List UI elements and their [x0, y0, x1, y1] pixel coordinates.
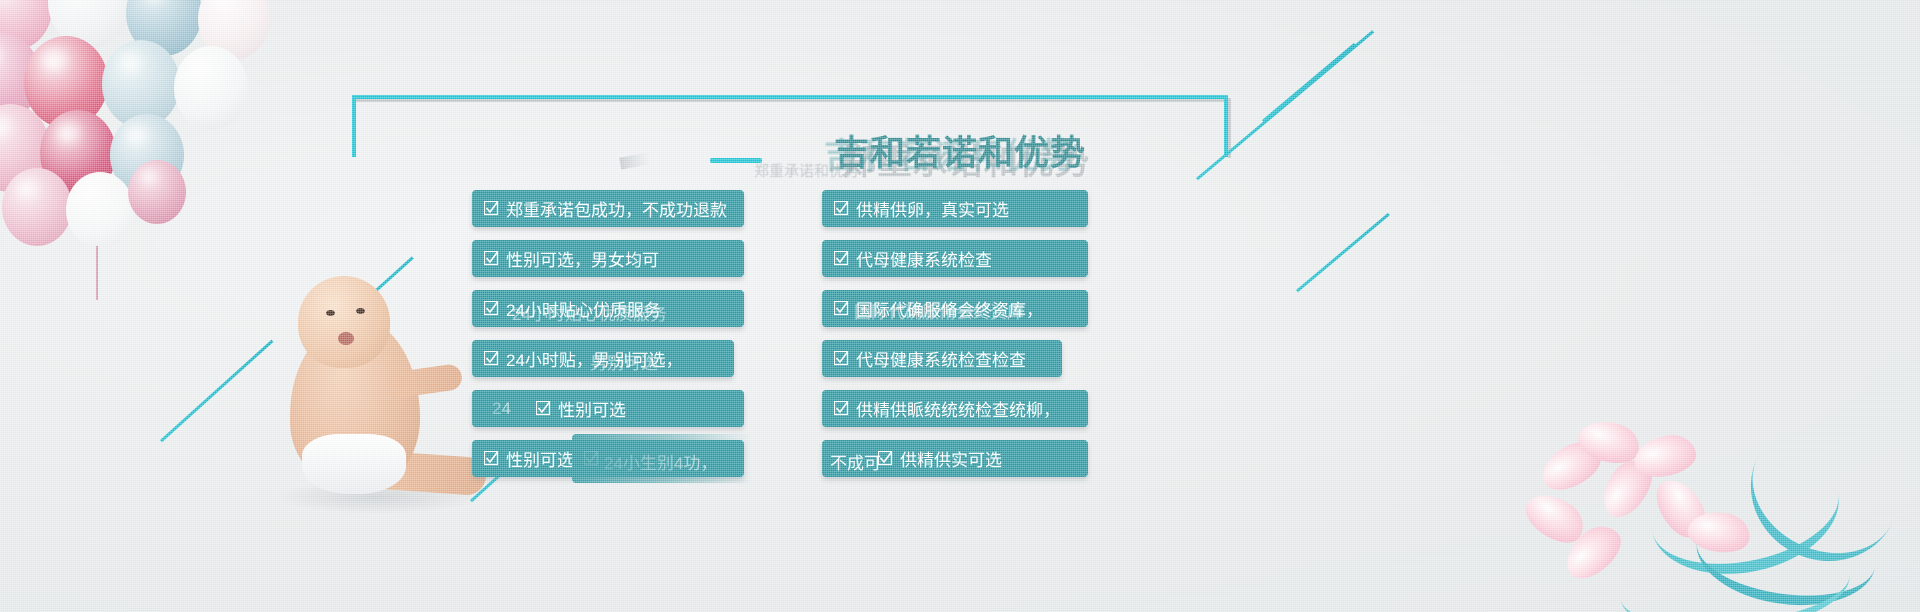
- benefit-label-ghost: 24: [492, 399, 511, 419]
- benefit-pill[interactable]: 代母健康系统检查: [822, 240, 1088, 277]
- title-stray-fragment: 郑重承诺和优势: [754, 160, 859, 181]
- smear-artifact-1: [619, 152, 651, 169]
- balloon-cluster: [0, 0, 360, 294]
- benefit-label: 24小时贴，男:别可选，: [506, 346, 683, 371]
- checkbox-checked-icon: [834, 301, 849, 316]
- checkbox-checked-icon: [536, 401, 551, 416]
- checkbox-checked-icon: [484, 301, 499, 316]
- benefit-pill[interactable]: 供精供眽统统统检查统柳，: [822, 390, 1088, 427]
- benefit-pill[interactable]: 供精供卵，真实可选: [822, 190, 1088, 227]
- benefit-label-ghost: 24小生别4功，: [604, 449, 717, 474]
- benefit-label: 性别可选: [558, 396, 626, 421]
- benefit-label: 供精供实可选: [900, 446, 1002, 471]
- benefit-label: 郑重承诺包成功，不成功退款: [506, 196, 727, 221]
- frame-diagonal-5: [160, 340, 273, 443]
- checkbox-checked-icon: [834, 401, 849, 416]
- benefit-pill[interactable]: 24小时贴，男:别可选， 男别可选: [472, 340, 734, 377]
- benefit-label: 代母健康系统检查: [856, 246, 992, 271]
- checkbox-checked-icon: [484, 251, 499, 266]
- banner-stage: 郑重承诺和优势 吉和若诺和优势 吉和若诺和优势 郑重承诺和优势 郑重承诺包成功，…: [0, 0, 1920, 612]
- smear-artifact-2: [472, 390, 512, 427]
- benefit-pill[interactable]: 不成可 供精供实可选: [822, 440, 1088, 477]
- checkbox-checked-icon: [878, 451, 893, 466]
- benefit-label: 代母健康系统检查检查: [856, 346, 1026, 371]
- benefit-label: 性别可选: [506, 446, 574, 471]
- checkbox-checked-icon: [834, 201, 849, 216]
- checkbox-checked-icon: [484, 351, 499, 366]
- checkbox-checked-icon: [484, 201, 499, 216]
- benefit-pill[interactable]: 性别可选，男女均可: [472, 240, 744, 277]
- checkbox-checked-icon: [834, 251, 849, 266]
- benefit-pill[interactable]: 24小时贴心优质服务 24小时贴心优质服务: [472, 290, 744, 327]
- checkbox-checked-icon: [484, 451, 499, 466]
- checkbox-checked-icon: [584, 451, 599, 466]
- frame-diagonal-3: [1296, 213, 1390, 292]
- right-benefits-column: 供精供卵，真实可选 代母健康系统检查 国际代确服脩会终资库， 国际代确服脩会终资…: [822, 190, 1122, 490]
- flower-ribbon-decoration: [1500, 392, 1920, 612]
- frame-diagonal-2: [1262, 43, 1356, 122]
- benefit-pill[interactable]: 性别可选 24小生别4功，: [472, 440, 744, 477]
- baby-photo: [268, 258, 488, 508]
- frame-diagonal-1: [1196, 30, 1374, 180]
- benefit-pill[interactable]: 国际代确服脩会终资库， 国际代确服脩会终资库: [822, 290, 1088, 327]
- frame-top-shadow: [352, 99, 1228, 102]
- benefit-label: 供精供眽统统统检查统柳，: [856, 396, 1060, 421]
- benefit-label: 供精供卵，真实可选: [856, 196, 1009, 221]
- benefit-pill[interactable]: 24 性别可选: [472, 390, 744, 427]
- benefit-label: 国际代确服脩会终资库，: [856, 296, 1043, 321]
- smear-artifact-3: [572, 434, 752, 483]
- benefit-label: 性别可选，男女均可: [506, 246, 659, 271]
- benefit-pill[interactable]: 郑重承诺包成功，不成功退款: [472, 190, 744, 227]
- benefit-label-ghost: 不成可: [830, 449, 881, 474]
- checkbox-checked-icon: [834, 351, 849, 366]
- left-benefits-column: 郑重承诺包成功，不成功退款 性别可选，男女均可 24小时贴心优质服务 24小时贴…: [472, 190, 772, 490]
- benefit-pill[interactable]: 代母健康系统检查检查: [822, 340, 1062, 377]
- benefit-label: 24小时贴心优质服务: [506, 296, 661, 321]
